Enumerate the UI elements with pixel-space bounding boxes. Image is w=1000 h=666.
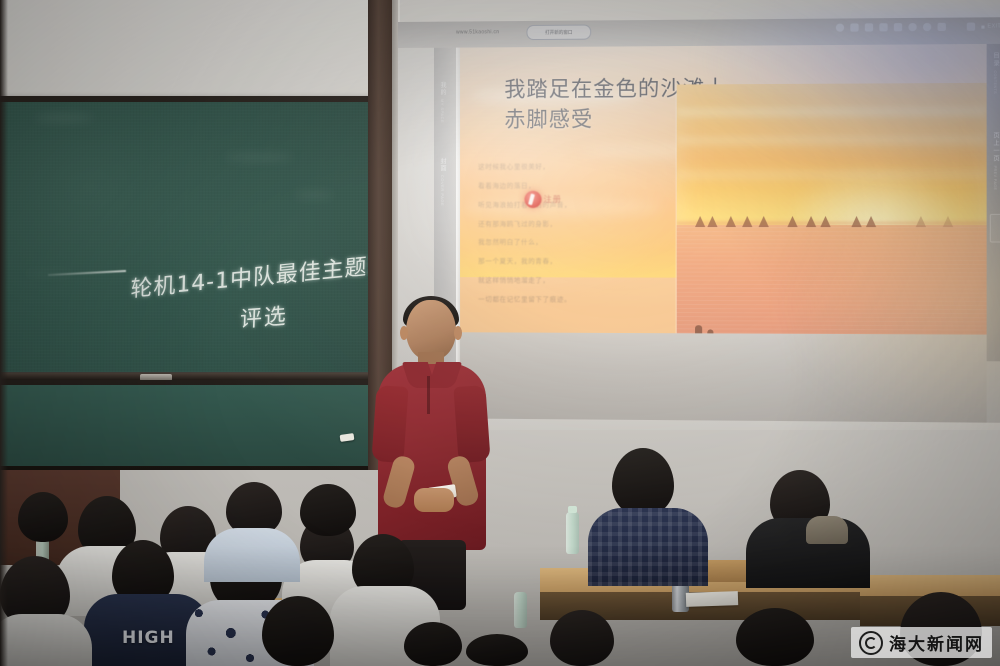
chalkboard-lower-surface [0,385,368,466]
audience-head [612,448,674,516]
audience-torso-plaid [588,508,708,586]
paper-notes-1 [686,591,738,607]
slide-body-line-6: 那一个夏天，我的青春， [478,252,670,271]
presenter-shirt-placket [427,376,430,414]
sidebar-item-prev-page[interactable]: 页上一页 PREV PAGE [991,132,1000,191]
slide-canvas: 我踏足在金色的沙滩上， 赤脚感受 这时候我心里很美好， 看着海边的落日， 听见海… [460,44,987,423]
viewer-toolbar-icons: EXIT [836,22,1000,31]
presenter-ear-right [454,326,462,340]
water-bottle-2 [514,592,527,628]
audience-head [736,608,814,666]
exit-button[interactable]: EXIT [981,23,1000,29]
presenter-hands [414,488,454,512]
slide-body-line-7: 就这样悄悄地溜走了， [478,271,670,290]
classroom-photo-scene: 轮机14-1中队最佳主题班会 评选 www.51kaoshi.cn 打开新的窗口 [0,0,1000,666]
hoodie-text-label: HIGH [122,628,175,648]
slide-body-text: 这时候我心里很美好， 看着海边的落日， 听见海浪拍打着礁石的声音， 还有那海鸥飞… [478,157,670,309]
audience-head [550,610,614,666]
help-icon[interactable] [894,23,902,31]
sidebar-label-prev-page: 页上一页 [992,132,998,163]
chalkboard-text-line-2: 评选 [239,298,288,334]
minus-icon[interactable] [908,23,916,31]
sidebar-sub-cover: COVER PAGE [440,175,445,206]
left-edge-shadow [0,0,8,666]
slide-body-line-5: 我忽然明白了什么， [478,233,670,252]
slide-body-line-3: 听见海浪拍打着礁石的声音， [478,195,670,214]
sidebar-label-my-space: 我的 [439,82,445,96]
water-bottle-1 [566,512,579,554]
audience-head [262,596,334,666]
chalkboard-frame [0,96,374,396]
sailboat-row [677,214,987,227]
audience-torso [0,614,92,666]
user-icon[interactable] [850,23,858,31]
badge-label: 注册 [544,194,562,205]
person-icon[interactable] [865,23,873,31]
sidebar-label-contents: 目录 [992,52,998,67]
sidebar-sub-my-space: MY SPACE [440,98,445,122]
audience-head [466,634,528,666]
news-site-watermark: 海大新闻网 [851,627,992,658]
viewer-toolbar: www.51kaoshi.cn 打开新的窗口 EXIT [398,17,1000,48]
audience-head [18,492,68,542]
viewer-right-sidebar: 目录 CONTENTS 页上一页 PREV PAGE 下一页 [987,44,1000,362]
sidebar-label-cover: 封面 [439,158,445,172]
slide-body-line-8: 一切都在记忆里留下了痕迹。 [478,290,670,310]
audience-head [300,484,356,536]
slide-body-line-4: 还有那海鸥飞过的身影， [478,214,670,233]
exit-marker-icon [981,25,984,28]
slide-lower-band [460,332,987,422]
badge-logo-icon [524,191,541,208]
sidebar-sub-prev-page: PREV PAGE [993,166,997,191]
presenter-sleeve-left [371,385,408,463]
sidebar-item-cover[interactable]: 封面 COVER PAGE [438,158,447,206]
presenter-head [406,300,456,360]
lightning-icon[interactable] [937,23,945,31]
viewer-new-window-button[interactable]: 打开新的窗口 [526,25,591,41]
sidebar-sub-contents: CONTENTS [993,71,997,95]
audience-torso [204,528,300,582]
plus-icon[interactable] [923,23,931,31]
circle-logo-icon [859,631,883,655]
slide-body-line-1: 这时候我心里很美好， [478,157,670,176]
sidebar-item-my-space[interactable]: 我的 MY SPACE [438,82,447,123]
chalkboard-surface [0,102,370,390]
chalkboard-lower-panel [0,380,372,470]
register-badge[interactable]: 注册 [524,191,561,208]
presenter-ear-left [400,326,408,340]
slide-body-line-2: 看着海边的落日， [478,176,670,195]
audience-hood-collar [806,516,848,544]
watermark-text: 海大新闻网 [889,630,984,655]
photo-sea [677,225,987,351]
presenter-sleeve-right [453,385,490,463]
viewer-url-watermark: www.51kaoshi.cn [456,29,499,35]
water-bottle-cap-1 [568,506,577,513]
print-icon[interactable] [879,23,887,31]
music-icon[interactable] [967,23,975,31]
sidebar-item-contents[interactable]: 目录 CONTENTS [991,52,1000,94]
audience-head [404,622,462,666]
globe-icon[interactable] [836,24,844,32]
sidebar-item-next-page[interactable]: 下一页 [990,214,1000,243]
slide-photo-sunset-sea [677,83,987,351]
exit-label: EXIT [988,23,1000,29]
